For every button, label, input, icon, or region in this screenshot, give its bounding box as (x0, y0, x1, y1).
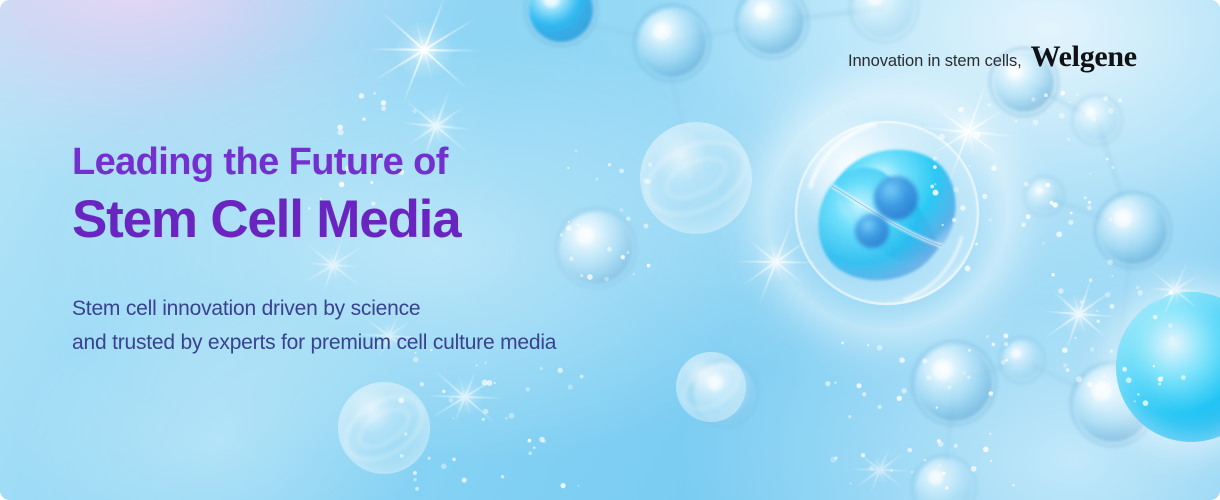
headline-line-1: Leading the Future of (72, 143, 460, 181)
sparkle-icon (1158, 273, 1192, 307)
headline-line-2: Stem Cell Media (72, 191, 460, 248)
background-base-gradient (0, 0, 1220, 500)
background-glow-top-left (0, 0, 1220, 500)
sparkle-layer (0, 0, 1220, 500)
ghost-cell-details (0, 0, 1220, 500)
subheadline-block: Stem cell innovation driven by science a… (72, 292, 556, 360)
ghost-cell-1 (640, 122, 752, 234)
hero-stem-cell (768, 96, 1006, 328)
headline-block: Leading the Future of Stem Cell Media (72, 143, 460, 248)
subheadline-line-2: and trusted by experts for premium cell … (72, 326, 556, 360)
particle-dots (0, 0, 1220, 500)
sparkle-icon (446, 378, 484, 416)
subheadline-line-1: Stem cell innovation driven by science (72, 292, 556, 326)
ghost-cell-3 (676, 352, 746, 422)
background-glow-bottom-right (0, 0, 1220, 500)
hero-banner: Innovation in stem cells, Welgene Leadin… (0, 0, 1220, 500)
brand-tagline: Innovation in stem cells, Welgene (848, 40, 1137, 74)
hero-stem-cell-detail (792, 118, 982, 308)
sparkle-icon (393, 19, 455, 81)
tagline-text: Innovation in stem cells, (848, 52, 1022, 71)
ghost-cell-2 (338, 382, 430, 474)
sparkle-icon (316, 248, 350, 282)
background-center-bloom (0, 0, 1220, 500)
sparkle-icon (940, 104, 996, 160)
edge-stem-cell (1116, 292, 1220, 442)
sparkle-icon (865, 455, 895, 485)
sparkle-icon (1057, 292, 1101, 336)
background-glow-top-right (0, 0, 1220, 500)
welgene-logo: Welgene (1031, 40, 1137, 74)
molecule-network (0, 0, 1220, 500)
sparkle-icon (754, 240, 798, 284)
